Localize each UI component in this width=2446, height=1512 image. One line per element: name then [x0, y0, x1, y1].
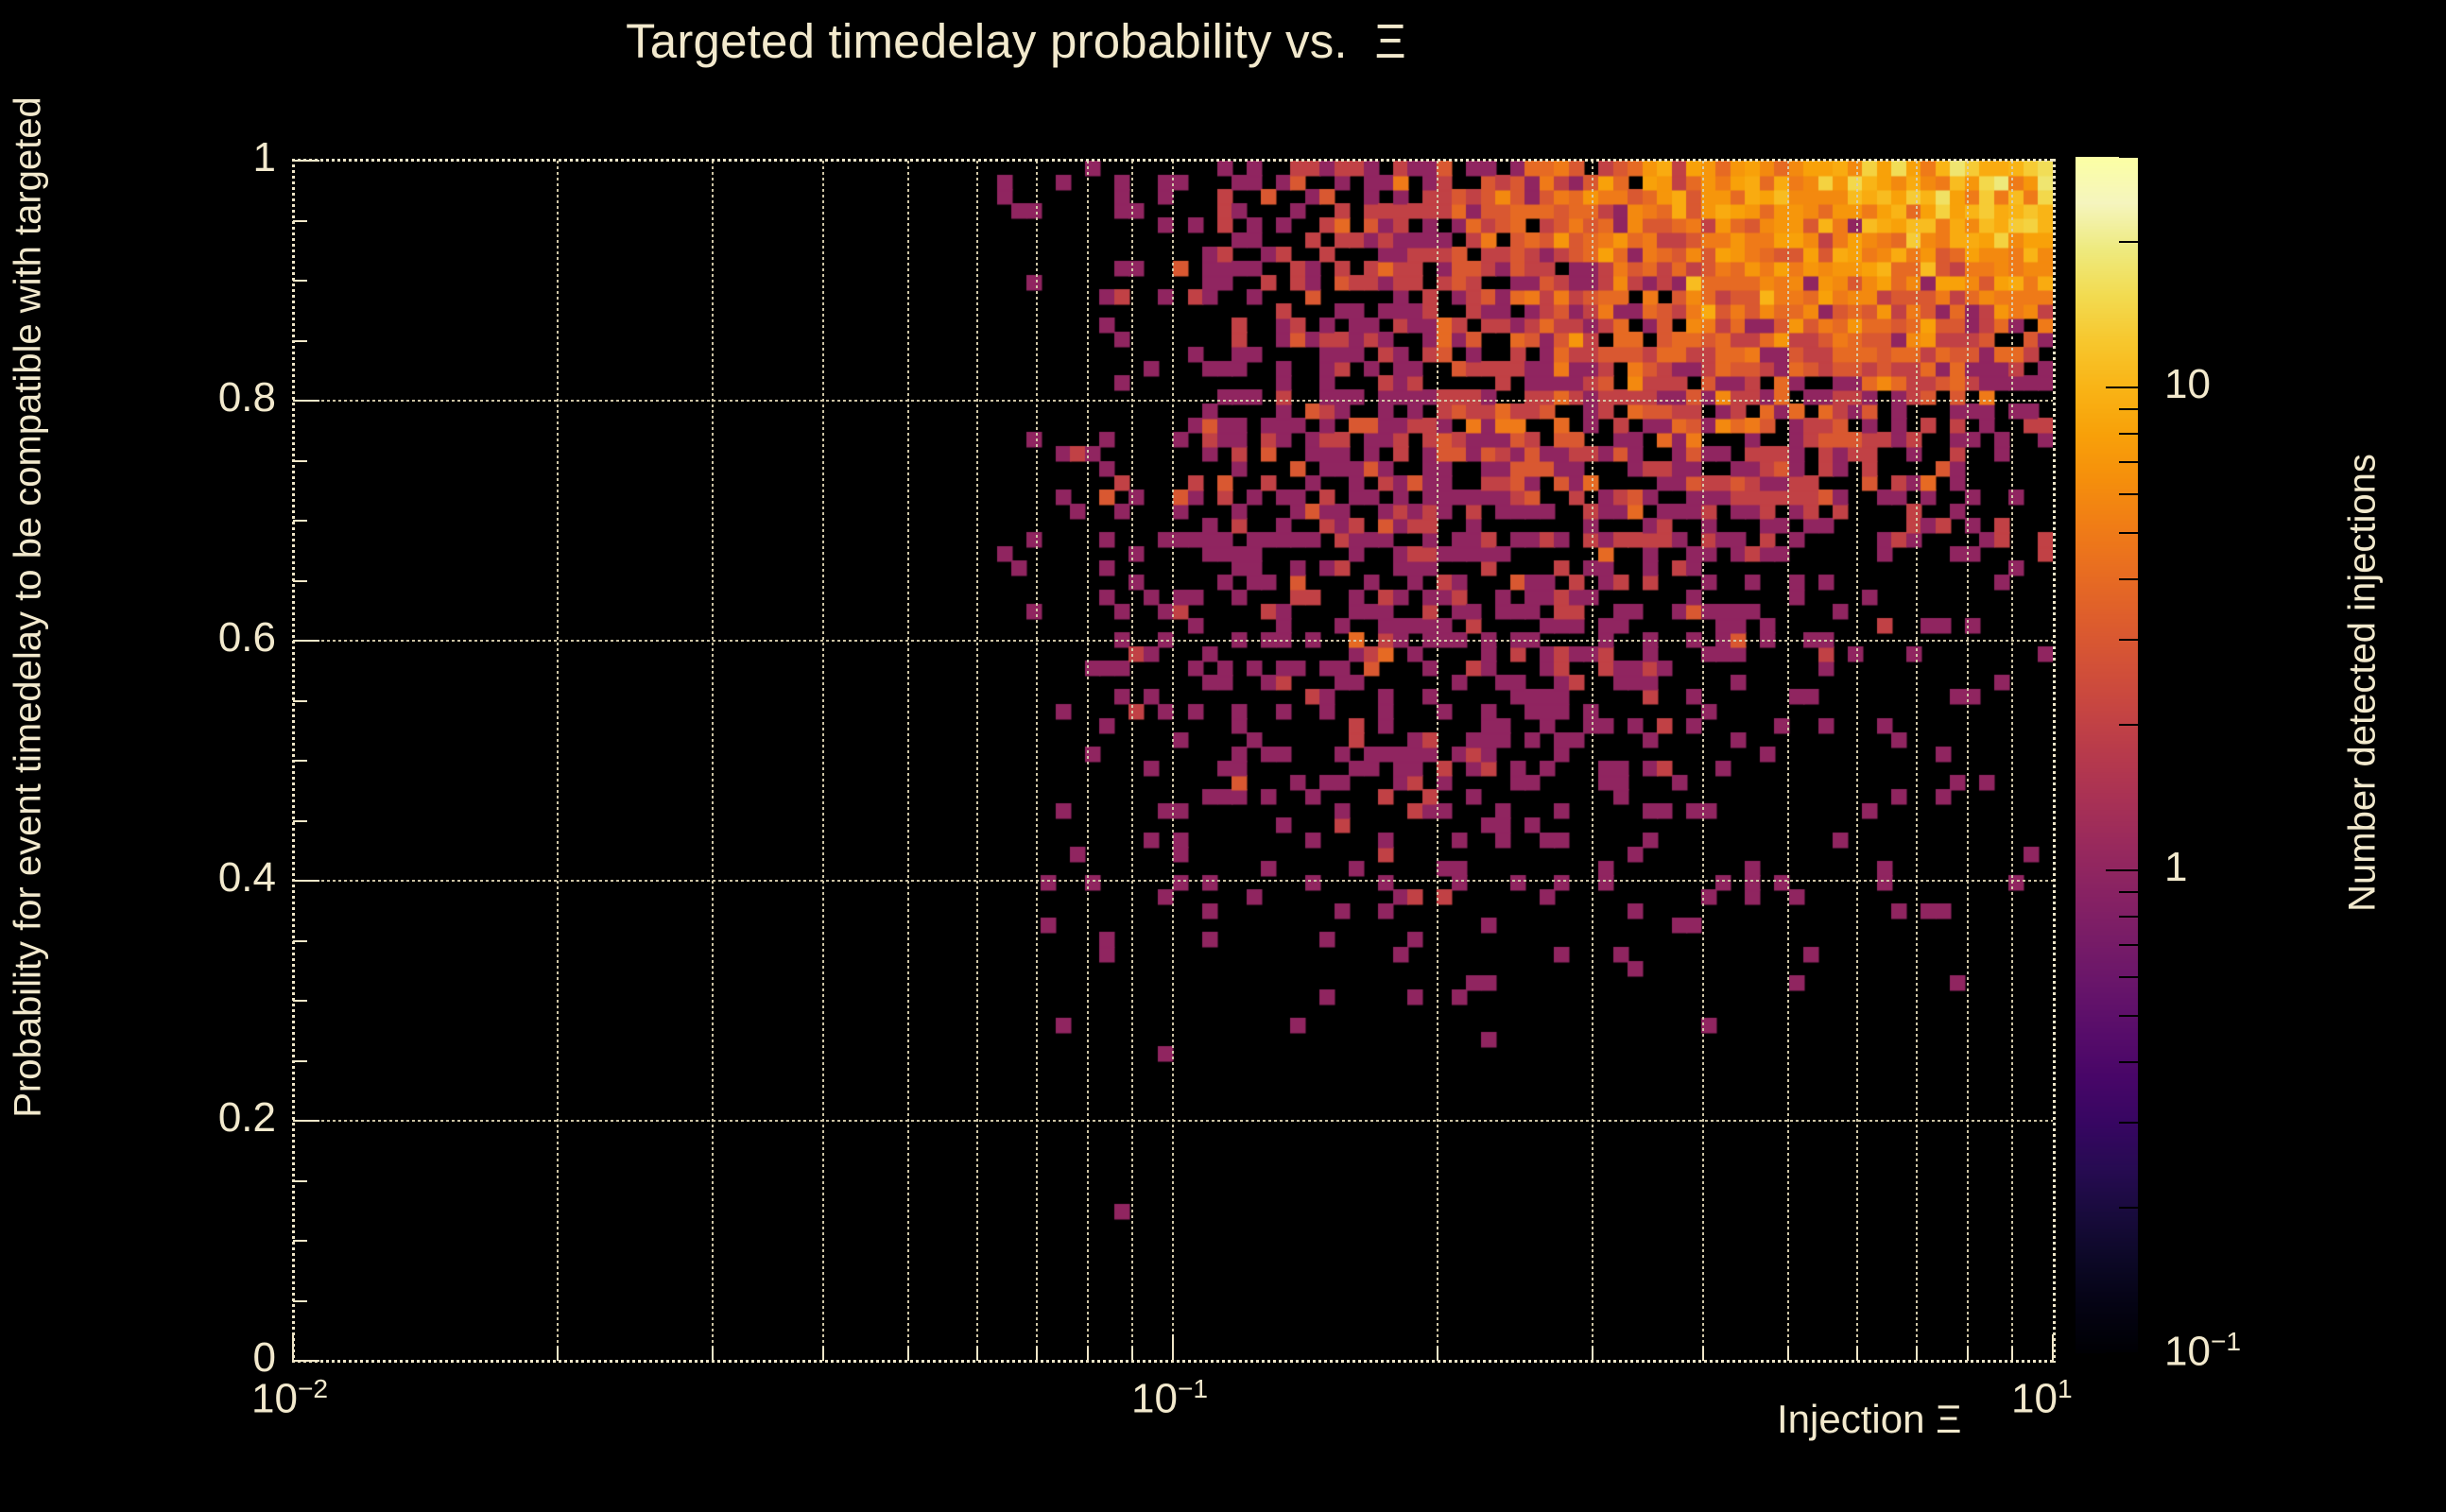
y-tick-minor — [293, 580, 307, 582]
y-tick-minor — [293, 220, 307, 222]
y-tick-major — [293, 400, 319, 402]
page-title: Targeted timedelay probability vs. Ξ — [0, 13, 2032, 69]
x-tick-label-exponent: 1 — [2058, 1374, 2073, 1403]
colorbar-tick-mantissa: 10 — [2164, 361, 2211, 407]
grid-line-vertical — [1916, 161, 1918, 1361]
colorbar-tick-mantissa: 1 — [2164, 844, 2187, 890]
x-tick-minor — [1036, 1347, 1038, 1361]
x-tick-minor — [1856, 1347, 1858, 1361]
y-tick-minor — [293, 1300, 307, 1302]
x-tick-minor — [1592, 1347, 1593, 1361]
grid-line-vertical — [557, 161, 559, 1361]
x-tick-label: 10−2 — [251, 1374, 328, 1423]
colorbar-tick-minor — [2119, 532, 2138, 534]
colorbar-tick-minor — [2119, 976, 2138, 978]
grid-line-vertical — [1087, 161, 1089, 1361]
colorbar-tick-label: 1 — [2164, 844, 2187, 891]
y-tick-minor — [293, 1000, 307, 1002]
x-tick-minor — [2011, 1347, 2013, 1361]
colorbar-tick-minor — [2119, 1122, 2138, 1124]
colorbar-tick-minor — [2119, 241, 2138, 243]
colorbar-tick-minor — [2119, 916, 2138, 918]
colorbar-tick-major — [2106, 1352, 2138, 1354]
axis-frame-top — [292, 159, 2056, 162]
grid-line-vertical — [2011, 161, 2013, 1361]
grid-line-vertical — [1967, 161, 1969, 1361]
grid-line-vertical — [1437, 161, 1438, 1361]
colorbar-tick-exponent: −1 — [2211, 1327, 2241, 1356]
y-axis-title: Probability for event timedelay to be co… — [8, 88, 50, 1127]
axis-frame-left — [292, 159, 295, 1363]
colorbar-tick-minor — [2119, 578, 2138, 580]
x-tick-minor — [1702, 1347, 1704, 1361]
x-axis-title: Injection Ξ — [1777, 1397, 1961, 1442]
colorbar-tick-major — [2106, 387, 2138, 388]
grid-line-vertical — [1036, 161, 1038, 1361]
y-tick-minor — [293, 940, 307, 942]
grid-line-vertical — [907, 161, 909, 1361]
x-tick-minor — [1787, 1347, 1789, 1361]
colorbar-tick-minor — [2119, 891, 2138, 893]
y-tick-minor — [293, 520, 307, 522]
colorbar-tick-label: 10 — [2164, 361, 2211, 408]
x-tick-label: 10−1 — [1131, 1374, 1208, 1423]
x-tick-minor — [1087, 1347, 1089, 1361]
y-tick-major — [293, 640, 319, 642]
x-tick-minor — [822, 1347, 824, 1361]
colorbar-tick-major — [2106, 869, 2138, 871]
grid-line-vertical — [1702, 161, 1704, 1361]
y-tick-label: 0.8 — [218, 374, 276, 421]
x-tick-minor — [976, 1347, 978, 1361]
x-tick-minor — [1916, 1347, 1918, 1361]
axis-frame-right — [2053, 159, 2056, 1363]
y-tick-major — [293, 880, 319, 882]
x-tick-label-mantissa: 10 — [2011, 1376, 2058, 1422]
x-tick-label-exponent: −1 — [1178, 1374, 1208, 1403]
y-tick-label: 0.4 — [218, 854, 276, 902]
y-tick-major — [293, 1120, 319, 1122]
colorbar-tick-minor — [2119, 639, 2138, 641]
y-tick-minor — [293, 700, 307, 702]
colorbar-tick-minor — [2119, 944, 2138, 946]
y-tick-label: 1 — [253, 134, 276, 181]
colorbar-tick-minor — [2119, 156, 2138, 158]
y-tick-label: 0.6 — [218, 614, 276, 661]
colorbar-tick-minor — [2119, 408, 2138, 410]
colorbar-tick-minor — [2119, 1207, 2138, 1209]
x-tick-label-mantissa: 10 — [251, 1376, 298, 1422]
grid-line-vertical — [1131, 161, 1133, 1361]
y-tick-minor — [293, 820, 307, 822]
colorbar[interactable] — [2076, 157, 2138, 1353]
y-tick-minor — [293, 760, 307, 762]
y-tick-minor — [293, 1060, 307, 1062]
x-tick-minor — [1967, 1347, 1969, 1361]
x-tick-minor — [557, 1347, 559, 1361]
colorbar-tick-minor — [2119, 433, 2138, 435]
colorbar-tick-minor — [2119, 461, 2138, 463]
grid-line-vertical — [1787, 161, 1789, 1361]
x-tick-minor — [1131, 1347, 1133, 1361]
grid-line-vertical — [1856, 161, 1858, 1361]
y-tick-minor — [293, 280, 307, 282]
x-tick-label: 101 — [2011, 1374, 2073, 1423]
x-tick-minor — [1437, 1347, 1438, 1361]
grid-line-vertical — [976, 161, 978, 1361]
colorbar-tick-minor — [2119, 724, 2138, 726]
colorbar-tick-minor — [2119, 493, 2138, 495]
y-tick-minor — [293, 460, 307, 462]
figure-canvas: Targeted timedelay probability vs. Ξ 00.… — [0, 0, 2446, 1512]
colorbar-tick-mantissa: 10 — [2164, 1329, 2211, 1375]
grid-line-vertical — [822, 161, 824, 1361]
x-tick-minor — [907, 1347, 909, 1361]
y-tick-minor — [293, 340, 307, 342]
colorbar-gradient — [2076, 157, 2138, 1353]
x-tick-major — [1172, 1334, 1174, 1361]
y-tick-minor — [293, 1180, 307, 1182]
axis-frame-bottom — [292, 1360, 2056, 1363]
y-tick-minor — [293, 1240, 307, 1242]
y-tick-label: 0.2 — [218, 1094, 276, 1142]
colorbar-title: Number detected injections — [2342, 258, 2385, 1108]
x-tick-label-mantissa: 10 — [1131, 1376, 1178, 1422]
x-tick-minor — [712, 1347, 714, 1361]
colorbar-tick-label: 10−1 — [2164, 1327, 2241, 1376]
grid-line-vertical — [1592, 161, 1593, 1361]
x-tick-label-exponent: −2 — [298, 1374, 328, 1403]
colorbar-tick-minor — [2119, 1061, 2138, 1063]
grid-line-vertical — [1172, 161, 1174, 1361]
colorbar-tick-minor — [2119, 1015, 2138, 1017]
grid-line-vertical — [712, 161, 714, 1361]
